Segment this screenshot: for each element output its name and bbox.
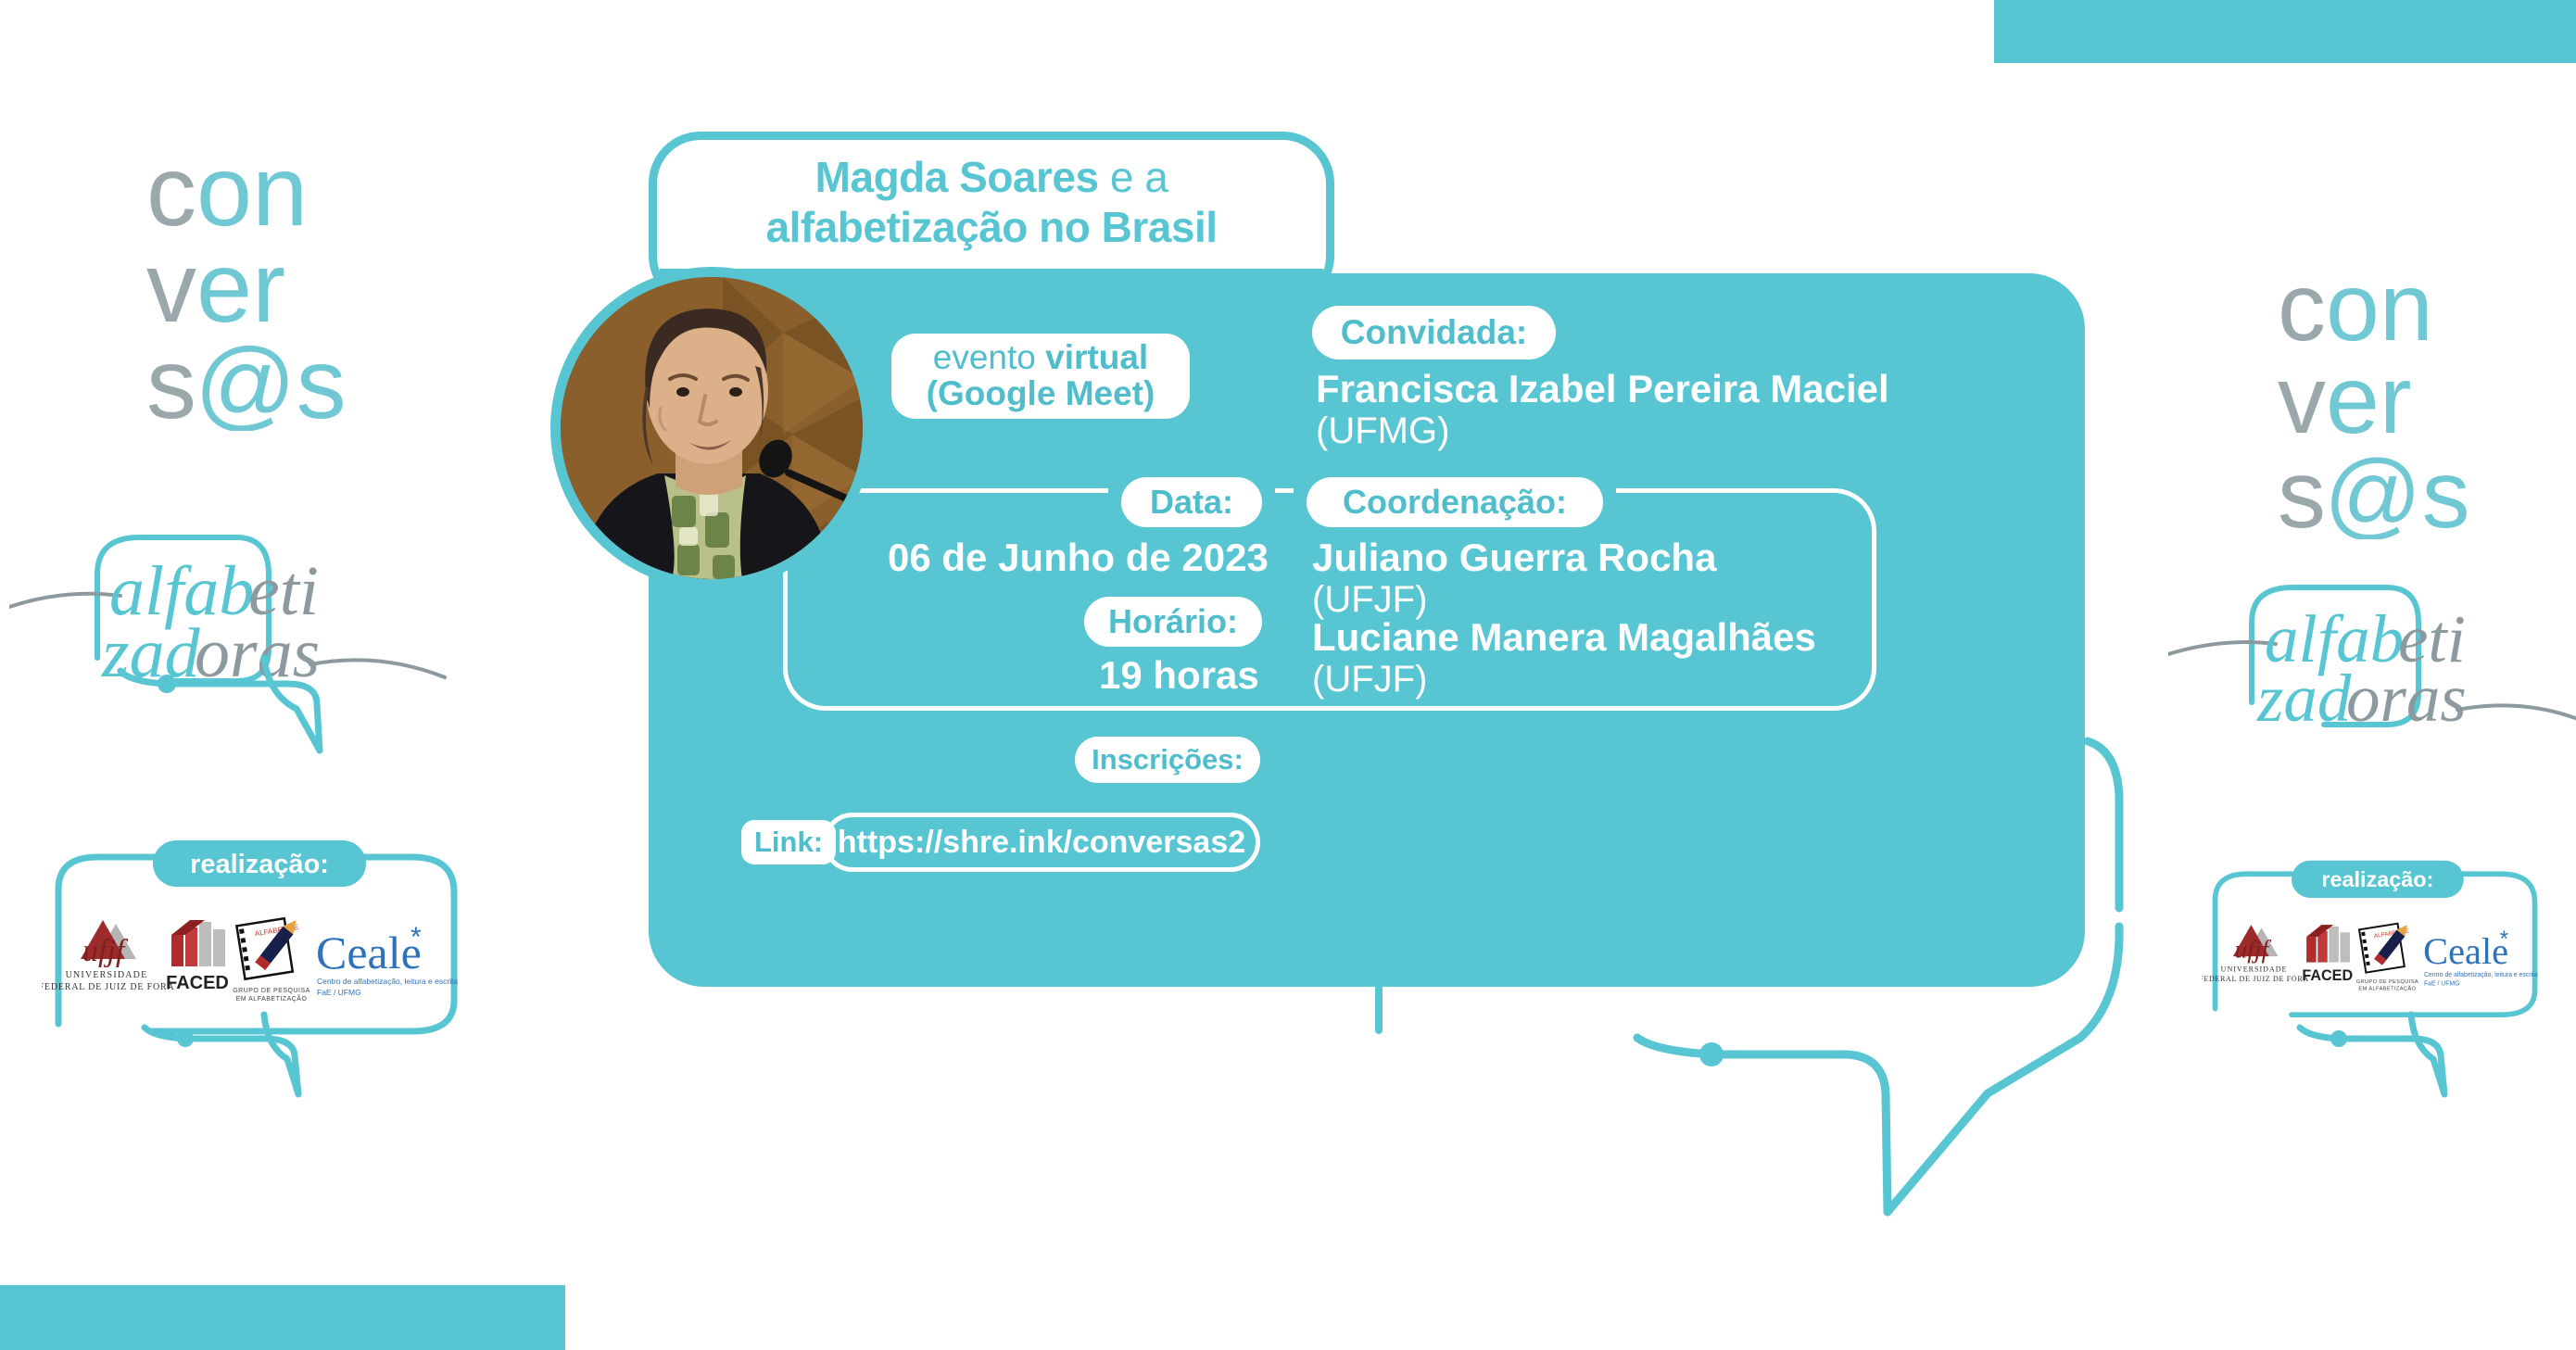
svg-text:GRUPO DE PESQUISA: GRUPO DE PESQUISA [233,988,310,994]
top-right-accent-bar [1994,0,2576,63]
data-label: Data: [1121,477,1262,527]
speech-tail-left-upper [19,639,510,825]
horario-label: Horário: [1084,597,1262,647]
conversas-wordmark-left: c on v er s @s [139,144,380,431]
portrait-illustration [561,277,863,579]
svg-text:Centro de alfabetização, leitu: Centro de alfabetização, leitura e escri… [317,977,458,986]
modality-line2: (Google Meet) [927,376,1155,412]
inscricoes-label: Inscrições: [1075,737,1260,783]
tail-dot-center-right [1699,1042,1724,1066]
magda-soares-photo [550,267,873,589]
svg-text:ufjf: ufjf [82,934,129,968]
conversas-wordmark-right: c on v er s @s [2272,261,2504,539]
alfabetizadoras-bubble-right: alfab eti zad oras [2168,547,2576,760]
grupo-pesquisa-logo-left: ALFABETIZE GRUPO DE PESQUISA EM ALFABETI… [233,916,310,1003]
modality-line1: evento [933,338,1036,376]
convidada-label: Convidada: [1312,306,1556,360]
modality-pill: evento virtual (Google Meet) [891,334,1190,419]
title-line2: alfabetização no Brasil [766,203,1218,251]
svg-text:FACED: FACED [2302,967,2353,984]
grupo-pesquisa-logo-right: ALFABETIZE GRUPO DE PESQUISA EM ALFABETI… [2356,922,2418,992]
conversas-v-right: v [2278,347,2326,454]
script-oras-right: oras [2346,661,2467,736]
tail-dot-right-lower [2330,1030,2347,1047]
horario-value: 19 horas [1099,653,1259,698]
coordenador-1-name: Juliano Guerra Rocha [1312,536,1716,580]
script-zadoras-right: zad [2256,661,2352,736]
conversas-er-left: er [196,231,285,343]
tail-dot-left-upper [158,675,176,693]
svg-text:UNIVERSIDADE: UNIVERSIDADE [66,970,148,980]
modality-line1-bold: virtual [1045,338,1148,376]
ufjf-logo-right: ufjf UNIVERSIDADE FEDERAL DE JUIZ DE FOR… [2202,925,2309,983]
faced-logo-right: FACED [2302,925,2353,984]
conversas-s-left: s [146,327,196,431]
svg-text:Ceale: Ceale [316,927,422,978]
ufjf-logo-left: ufjf UNIVERSIDADE FEDERAL DE JUIZ DE FOR… [42,920,174,992]
svg-text:UNIVERSIDADE: UNIVERSIDADE [2221,965,2288,973]
svg-text:FaE / UFMG: FaE / UFMG [2424,981,2460,988]
ceale-logo-left: Ceale * Centro de alfabetização, leitura… [316,922,458,997]
svg-text:EM ALFABETIZAÇÃO: EM ALFABETIZAÇÃO [2358,985,2416,991]
svg-text:*: * [410,922,422,953]
svg-text:Centro de alfabetização, leitu: Centro de alfabetização, leitura e escri… [2424,972,2538,978]
title-light: e a [1099,153,1168,201]
bubble-stub-center [1371,973,1399,1038]
registration-link[interactable]: https://shre.ink/conversas2 [823,813,1260,872]
faced-logo-left: FACED [166,920,229,993]
title-bold: Magda Soares [815,153,1099,201]
convidada-affiliation: (UFMG) [1316,410,1449,452]
conversas-v-left: v [146,231,196,343]
data-value: 06 de Junho de 2023 [888,536,1269,580]
speech-tail-right-lower [2216,1005,2576,1126]
svg-text:FEDERAL DE JUIZ DE FORA: FEDERAL DE JUIZ DE FORA [2202,975,2309,983]
conversas-er-right: er [2326,347,2411,454]
speech-tail-center-right [1469,732,2303,1251]
svg-text:FaE / UFMG: FaE / UFMG [317,988,361,997]
page-title: Magda Soares e a alfabetização no Brasil [649,153,1334,253]
svg-text:GRUPO DE PESQUISA: GRUPO DE PESQUISA [2356,979,2418,985]
realizacao-pill-label-right: realização: [2321,867,2433,891]
link-label: Link: [741,820,836,864]
conversas-ats-left: @s [195,327,347,431]
conversas-ats-right: @s [2324,441,2470,539]
coordenador-2-affiliation: (UFJF) [1312,659,1427,700]
svg-text:FEDERAL DE JUIZ DE FORA: FEDERAL DE JUIZ DE FORA [42,982,174,992]
coordenador-2-name: Luciane Manera Magalhães [1312,615,1816,660]
tail-dot-left-lower [177,1030,194,1047]
convidada-name: Francisca Izabel Pereira Maciel [1316,367,1889,411]
realizacao-pill-label-left: realização: [190,850,329,879]
svg-text:ufjf: ufjf [2235,936,2272,964]
svg-text:FACED: FACED [166,973,229,993]
event-poster: c on v er s @s alfab eti zad oras [0,0,2576,1350]
ceale-logo-right: Ceale * Centro de alfabetização, leitura… [2423,927,2538,988]
svg-text:EM ALFABETIZAÇÃO: EM ALFABETIZAÇÃO [236,994,308,1003]
bottom-left-accent-bar [0,1285,565,1350]
coordenacao-label: Coordenação: [1307,477,1603,527]
svg-text:Ceale: Ceale [2423,930,2508,972]
svg-text:*: * [2500,927,2509,952]
speech-tail-left-lower [56,1005,454,1126]
conversas-s-right: s [2278,441,2326,539]
